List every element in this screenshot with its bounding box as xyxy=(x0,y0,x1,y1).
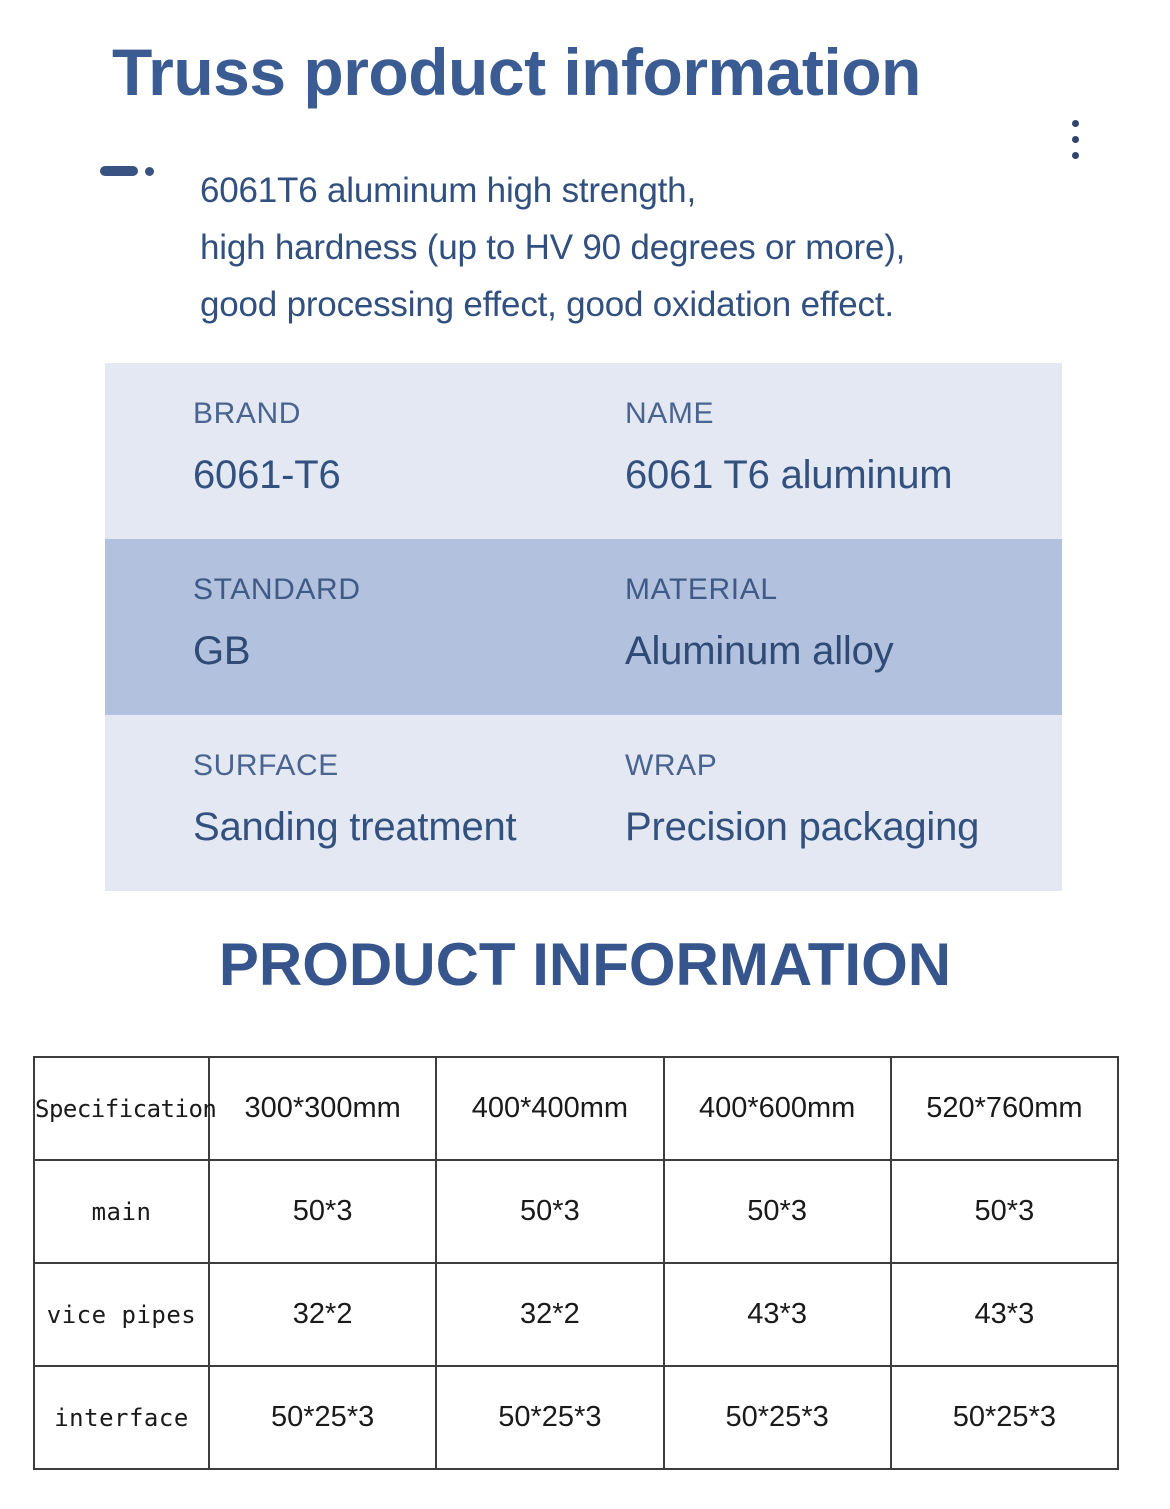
table-cell: 50*3 xyxy=(664,1160,891,1263)
spec-cell-surface: SURFACE Sanding treatment xyxy=(105,715,575,891)
table-header-cell: Specification xyxy=(34,1057,209,1160)
table-row-label: vice pipes xyxy=(34,1263,209,1366)
spec-label: NAME xyxy=(625,399,1062,429)
spec-value: Precision packaging xyxy=(625,807,1062,847)
spec-label: MATERIAL xyxy=(625,575,1062,605)
table-cell: 50*3 xyxy=(209,1160,436,1263)
table-row-label: main xyxy=(34,1160,209,1263)
spec-value: GB xyxy=(193,631,575,671)
table-cell: 32*2 xyxy=(209,1263,436,1366)
table-header-cell: 300*300mm xyxy=(209,1057,436,1160)
table-header-cell: 400*400mm xyxy=(436,1057,663,1160)
table-row-label: interface xyxy=(34,1366,209,1469)
spec-cell-brand: BRAND 6061-T6 xyxy=(105,363,575,539)
table-cell: 50*25*3 xyxy=(891,1366,1118,1469)
spec-cell-name: NAME 6061 T6 aluminum xyxy=(575,363,1062,539)
table-cell: 43*3 xyxy=(664,1263,891,1366)
spec-cell-material: MATERIAL Aluminum alloy xyxy=(575,539,1062,715)
table-cell: 43*3 xyxy=(891,1263,1118,1366)
vertical-dots-icon xyxy=(1072,120,1084,168)
table-row: interface 50*25*3 50*25*3 50*25*3 50*25*… xyxy=(34,1366,1118,1469)
spec-label: WRAP xyxy=(625,751,1062,781)
spec-value: 6061-T6 xyxy=(193,455,575,495)
table-cell: 50*25*3 xyxy=(209,1366,436,1469)
dot-2 xyxy=(1072,136,1079,143)
product-information-table: Specification 300*300mm 400*400mm 400*60… xyxy=(33,1056,1119,1470)
table-row: vice pipes 32*2 32*2 43*3 43*3 xyxy=(34,1263,1118,1366)
spec-cell-standard: STANDARD GB xyxy=(105,539,575,715)
table-cell: 50*25*3 xyxy=(436,1366,663,1469)
page-title: Truss product information xyxy=(112,38,921,107)
spec-panel: BRAND 6061-T6 NAME 6061 T6 aluminum STAN… xyxy=(105,363,1062,891)
table-header-row: Specification 300*300mm 400*400mm 400*60… xyxy=(34,1057,1118,1160)
spec-value: Sanding treatment xyxy=(193,807,575,847)
intro-paragraph: 6061T6 aluminum high strength, high hard… xyxy=(200,162,1070,333)
table-cell: 50*3 xyxy=(891,1160,1118,1263)
spec-label: STANDARD xyxy=(193,575,575,605)
table-cell: 32*2 xyxy=(436,1263,663,1366)
spec-row: SURFACE Sanding treatment WRAP Precision… xyxy=(105,715,1062,891)
dot-1 xyxy=(1072,120,1079,127)
table-row: main 50*3 50*3 50*3 50*3 xyxy=(34,1160,1118,1263)
intro-line-2: high hardness (up to HV 90 degrees or mo… xyxy=(200,219,1070,276)
spec-label: BRAND xyxy=(193,399,575,429)
intro-line-1: 6061T6 aluminum high strength, xyxy=(200,162,1070,219)
section-heading: PRODUCT INFORMATION xyxy=(0,930,1170,999)
spec-row: STANDARD GB MATERIAL Aluminum alloy xyxy=(105,539,1062,715)
spec-value: Aluminum alloy xyxy=(625,631,1062,671)
dash-dot-bullet-icon xyxy=(100,166,154,176)
table-header-cell: 400*600mm xyxy=(664,1057,891,1160)
intro-line-3: good processing effect, good oxidation e… xyxy=(200,276,1070,333)
dot-3 xyxy=(1072,152,1079,159)
spec-value: 6061 T6 aluminum xyxy=(625,455,1062,495)
spec-cell-wrap: WRAP Precision packaging xyxy=(575,715,1062,891)
bullet-dot xyxy=(145,167,154,176)
table-header-cell: 520*760mm xyxy=(891,1057,1118,1160)
table-cell: 50*3 xyxy=(436,1160,663,1263)
table-cell: 50*25*3 xyxy=(664,1366,891,1469)
bullet-dash xyxy=(100,166,138,176)
spec-label: SURFACE xyxy=(193,751,575,781)
spec-row: BRAND 6061-T6 NAME 6061 T6 aluminum xyxy=(105,363,1062,539)
